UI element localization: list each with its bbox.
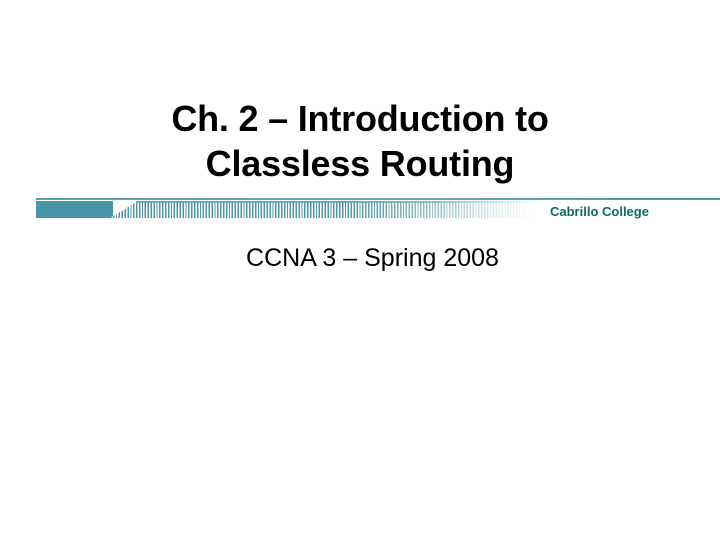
presentation-slide: Ch. 2 – Introduction to Classless Routin… — [0, 0, 720, 540]
slide-subtitle-container: CCNA 3 – Spring 2008 — [0, 243, 720, 273]
slide-subtitle: CCNA 3 – Spring 2008 — [246, 244, 499, 272]
slide-title-line-1: Ch. 2 – Introduction to — [0, 96, 720, 141]
divider-stripe-pattern — [136, 201, 536, 218]
divider-ramp-stripes — [110, 201, 138, 218]
divider-rule-line — [36, 198, 720, 200]
divider-solid-block — [36, 201, 113, 218]
slide-title: Ch. 2 – Introduction to Classless Routin… — [0, 96, 720, 186]
divider-stripe-cap — [136, 201, 536, 203]
divider-diagonal-ramp — [110, 201, 138, 218]
slide-title-line-2: Classless Routing — [0, 141, 720, 186]
organization-name: Cabrillo College — [550, 204, 649, 220]
